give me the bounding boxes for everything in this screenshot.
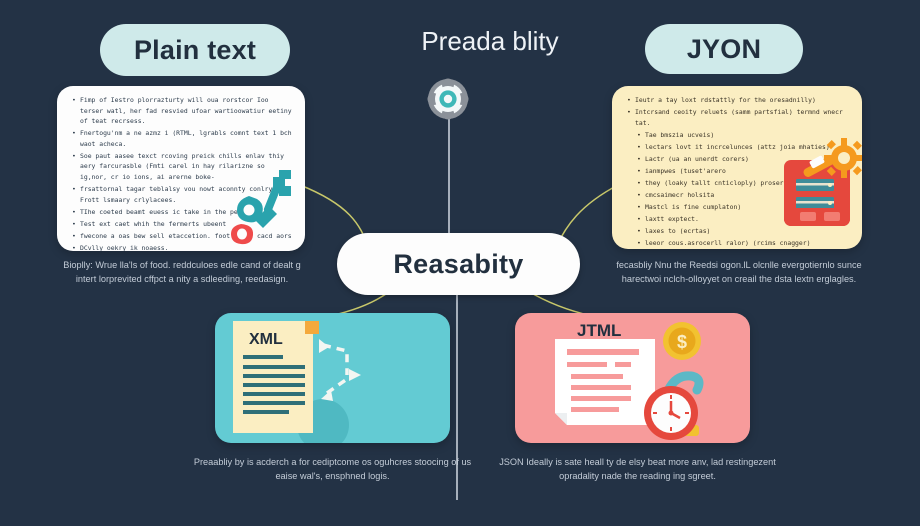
list-item: Fimp of Iestro plorrazturty will oua ror…: [80, 95, 295, 127]
infographic-canvas: Plain text Preada blity JYON Reasabity F…: [0, 0, 920, 526]
pill-json-label: JYON: [687, 34, 761, 65]
jtml-doc-label: JTML: [577, 321, 621, 341]
list-item: Fnertogu'nm a ne azmz i (RTML, lgrabls c…: [80, 128, 295, 149]
caption-jtml: JSON Ideally is sate heall ty de elsy be…: [495, 455, 780, 484]
svg-text:$: $: [677, 332, 687, 352]
flower-node-icon: [427, 78, 469, 120]
caption-json: fecasbliy Nnu the Reedsi ogon.lL olcnlle…: [614, 258, 864, 287]
coin-shape: $: [663, 322, 701, 360]
pill-json[interactable]: JYON: [645, 24, 803, 74]
card-plain-text[interactable]: Fimp of Iestro plorrazturty will oua ror…: [57, 86, 305, 251]
jtml-document-clock-coin-icon: $: [515, 313, 750, 443]
pill-plain-text-label: Plain text: [134, 35, 256, 66]
list-item: Ieutr a tay loxt rdstattly for the oresa…: [635, 95, 852, 106]
wrench-and-nut-icon: [229, 166, 303, 246]
card-jtml[interactable]: $ JTML: [515, 313, 750, 443]
card-json[interactable]: Ieutr a tay loxt rdstattly for the oresa…: [612, 86, 862, 249]
caption-xml: Preaabliy by is acderch a for cediptcome…: [190, 455, 475, 484]
center-hub[interactable]: Reasabity: [337, 233, 580, 295]
list-item: Intcrsand ceoity reluets (samm partsfial…: [635, 107, 852, 128]
caption-plain-text: Bioplly: Wrue lla'ls of food. reddculoes…: [58, 258, 306, 287]
center-hub-label: Reasabity: [393, 249, 523, 280]
briefcase-books-gear-icon: [770, 134, 862, 246]
card-xml[interactable]: XML: [215, 313, 450, 443]
xml-doc-label: XML: [249, 331, 283, 349]
pill-plain-text[interactable]: Plain text: [100, 24, 290, 76]
page-title: Preada blity: [370, 26, 610, 57]
